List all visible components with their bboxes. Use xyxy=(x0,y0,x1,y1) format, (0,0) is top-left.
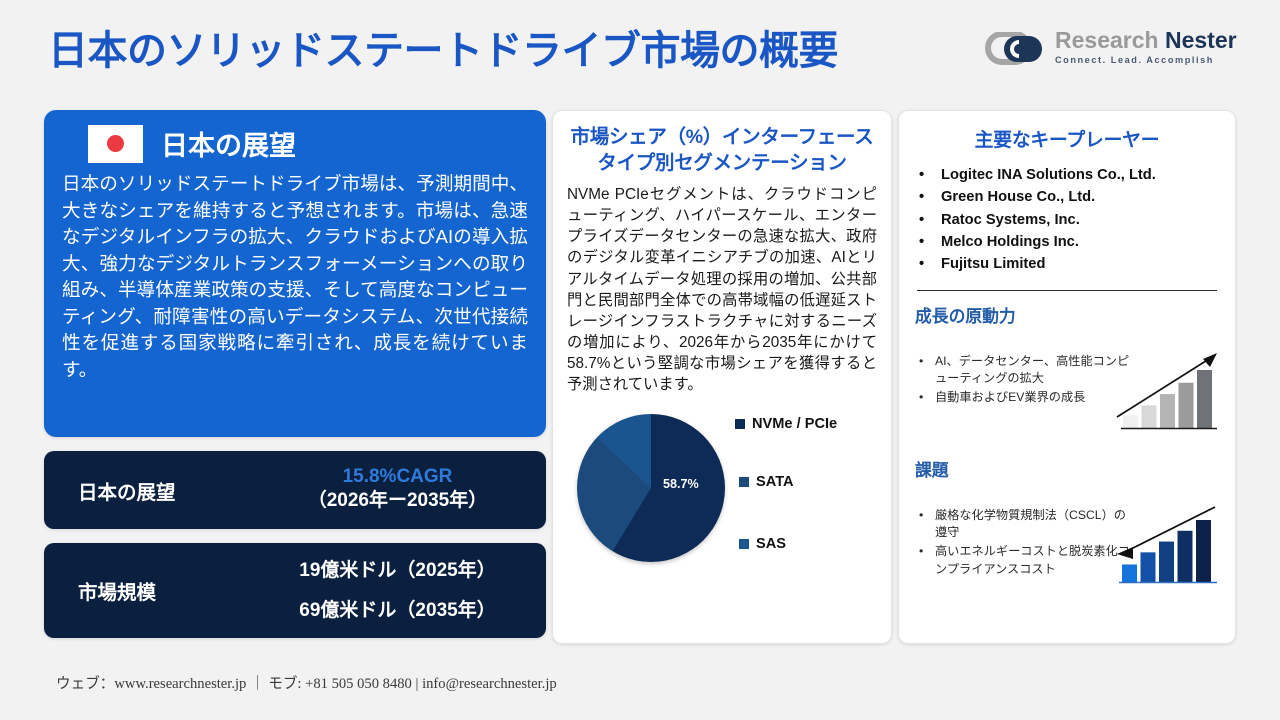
key-info-panel: 主要なキープレーヤー • Logitec INA Solutions Co., … xyxy=(898,110,1236,644)
market-size-stat-card: 市場規模 19億米ドル（2025年） 69億米ドル（2035年） xyxy=(44,543,546,638)
list-item: • 高いエネルギーコストと脱炭素化コンプライアンスコスト xyxy=(919,543,1131,578)
ascending-bar-chart-gray-icon xyxy=(1113,347,1221,435)
pie-chart-area: 58.7% NVMe / PCIe SATA SAS xyxy=(567,404,877,574)
key-player-name: Melco Holdings Inc. xyxy=(941,231,1079,253)
bullet-icon: • xyxy=(915,186,941,208)
chain-link-logo-icon xyxy=(985,32,1047,66)
key-player-name: Green House Co., Ltd. xyxy=(941,186,1095,208)
market-size-2025: 19億米ドル（2025年） xyxy=(249,561,546,580)
growth-driver-text: 自動車およびEV業界の成長 xyxy=(935,389,1085,406)
growth-drivers-list: • AI、データセンター、高性能コンピューティングの拡大 • 自動車およびEV業… xyxy=(919,353,1131,409)
growth-driver-text: AI、データセンター、高性能コンピューティングの拡大 xyxy=(935,353,1131,388)
pie-legend: NVMe / PCIe SATA SAS xyxy=(735,404,895,574)
footer-contact: ウェブ：www.researchnester.jp ｜ モブ: +81 505 … xyxy=(56,672,557,693)
pie-chart: 58.7% xyxy=(577,414,725,562)
list-item: • Melco Holdings Inc. xyxy=(915,231,1219,253)
japan-flag-icon xyxy=(88,125,143,163)
bullet-icon: • xyxy=(919,507,935,542)
section-divider xyxy=(917,290,1217,291)
japan-outlook-title: 日本の展望 xyxy=(161,124,296,163)
challenges-title: 課題 xyxy=(915,457,1219,481)
logo-word-nester: Nester xyxy=(1165,27,1237,53)
brand-logo: Research Nester Connect. Lead. Accomplis… xyxy=(985,28,1235,74)
challenge-text: 厳格な化学物質規制法（CSCL）の遵守 xyxy=(935,507,1131,542)
legend-item: SATA xyxy=(739,474,794,490)
cagr-stat-card: 日本の展望 15.8%CAGR （2026年ー2035年） xyxy=(44,451,546,529)
market-share-panel: 市場シェア（%）インターフェースタイプ別セグメンテーション NVMe PCIeセ… xyxy=(552,110,892,644)
bullet-icon: • xyxy=(915,209,941,231)
market-size-2035: 69億米ドル（2035年） xyxy=(249,601,546,620)
legend-swatch-nvme xyxy=(735,419,745,429)
cagr-value: 15.8%CAGR xyxy=(249,466,546,489)
header: 日本のソリッドステートドライブ市場の概要 Research Nester Con… xyxy=(0,0,1280,96)
japan-outlook-card: 日本の展望 日本のソリッドステートドライブ市場は、予測期間中、大きなシェアを維持… xyxy=(44,110,546,437)
list-item: • Green House Co., Ltd. xyxy=(915,186,1219,208)
list-item: • Fujitsu Limited xyxy=(915,253,1219,275)
key-player-name: Logitec INA Solutions Co., Ltd. xyxy=(941,164,1156,186)
list-item: • 厳格な化学物質規制法（CSCL）の遵守 xyxy=(919,507,1131,542)
bullet-icon: • xyxy=(915,231,941,253)
logo-wordmark: Research Nester Connect. Lead. Accomplis… xyxy=(1055,28,1237,65)
bullet-icon: • xyxy=(915,253,941,275)
list-item: • AI、データセンター、高性能コンピューティングの拡大 xyxy=(919,353,1131,388)
cagr-period: （2026年ー2035年） xyxy=(249,489,546,514)
bullet-icon: • xyxy=(919,389,935,406)
logo-word-research: Research xyxy=(1055,27,1159,53)
market-share-title: 市場シェア（%）インターフェースタイプ別セグメンテーション xyxy=(567,125,877,177)
legend-swatch-sata xyxy=(739,477,749,487)
list-item: • Logitec INA Solutions Co., Ltd. xyxy=(915,164,1219,186)
key-players-list: • Logitec INA Solutions Co., Ltd. • Gree… xyxy=(915,164,1219,276)
logo-tagline: Connect. Lead. Accomplish xyxy=(1055,55,1237,65)
page-title: 日本のソリッドステートドライブ市場の概要 xyxy=(48,18,838,76)
bullet-icon: • xyxy=(919,353,935,388)
challenges-block: • 厳格な化学物質規制法（CSCL）の遵守 • 高いエネルギーコストと脱炭素化コ… xyxy=(915,481,1219,599)
legend-label-nvme: NVMe / PCIe xyxy=(752,416,837,432)
legend-label-sas: SAS xyxy=(756,536,786,552)
growth-drivers-block: • AI、データセンター、高性能コンピューティングの拡大 • 自動車およびEV業… xyxy=(915,327,1219,445)
japan-outlook-header: 日本の展望 xyxy=(56,120,534,165)
challenges-list: • 厳格な化学物質規制法（CSCL）の遵守 • 高いエネルギーコストと脱炭素化コ… xyxy=(919,507,1131,580)
market-share-body: NVMe PCIeセグメントは、クラウドコンピューティング、ハイパースケール、エ… xyxy=(567,184,877,396)
key-players-title: 主要なキープレーヤー xyxy=(915,125,1219,152)
bullet-icon: • xyxy=(919,543,935,578)
challenge-text: 高いエネルギーコストと脱炭素化コンプライアンスコスト xyxy=(935,543,1131,578)
ascending-bar-chart-blue-icon xyxy=(1113,501,1221,589)
legend-label-sata: SATA xyxy=(756,474,794,490)
legend-item: NVMe / PCIe xyxy=(735,416,837,432)
legend-swatch-sas xyxy=(739,539,749,549)
cagr-stat-values: 15.8%CAGR （2026年ー2035年） xyxy=(249,466,546,513)
slide-canvas: 日本のソリッドステートドライブ市場の概要 Research Nester Con… xyxy=(0,0,1280,720)
list-item: • Ratoc Systems, Inc. xyxy=(915,209,1219,231)
japan-outlook-body: 日本のソリッドステートドライブ市場は、予測期間中、大きなシェアを維持すると予想さ… xyxy=(56,171,534,384)
pie-data-label: 58.7% xyxy=(663,477,699,491)
market-size-label: 市場規模 xyxy=(44,576,249,605)
key-player-name: Fujitsu Limited xyxy=(941,253,1045,275)
legend-item: SAS xyxy=(739,536,786,552)
list-item: • 自動車およびEV業界の成長 xyxy=(919,389,1131,406)
key-player-name: Ratoc Systems, Inc. xyxy=(941,209,1080,231)
bullet-icon: • xyxy=(915,164,941,186)
growth-drivers-title: 成長の原動力 xyxy=(915,303,1219,327)
market-size-values: 19億米ドル（2025年） 69億米ドル（2035年） xyxy=(249,561,546,620)
left-column: 日本の展望 日本のソリッドステートドライブ市場は、予測期間中、大きなシェアを維持… xyxy=(44,110,546,638)
cagr-stat-label: 日本の展望 xyxy=(44,476,249,505)
